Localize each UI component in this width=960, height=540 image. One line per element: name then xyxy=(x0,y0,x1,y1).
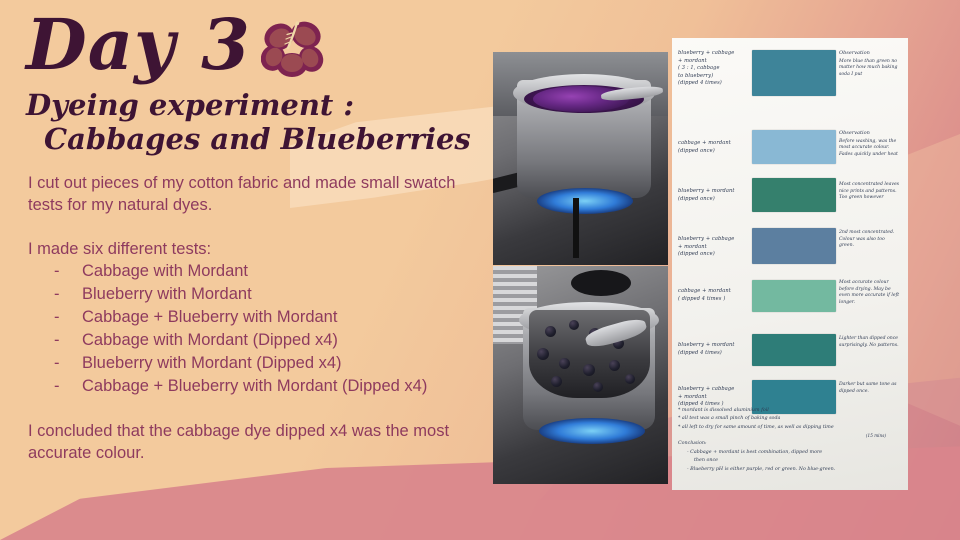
bullet-marker: - xyxy=(54,306,60,329)
conclusion-paragraph: I concluded that the cabbage dye dipped … xyxy=(28,420,484,464)
observation-text: More blue than green no matter how much … xyxy=(839,59,897,77)
footnote: * all test was a small pinch of baking s… xyxy=(678,415,902,423)
list-item: -Cabbage + Blueberry with Mordant xyxy=(28,306,484,329)
page-subtitle: Dyeing experiment : Cabbages and Blueber… xyxy=(26,88,484,156)
list-item: -Blueberry with Mordant (Dipped x4) xyxy=(28,352,484,375)
list-item-label: Cabbage with Mordant (Dipped x4) xyxy=(82,331,338,349)
footnote: * mordant is dissolved aluminium foil xyxy=(678,407,902,415)
notebook-footnotes: * mordant is dissolved aluminium foil * … xyxy=(678,407,902,474)
table-row: blueberry + mordant (dipped once) Most c… xyxy=(672,178,908,212)
fabric-swatch xyxy=(752,280,836,312)
tests-list: -Cabbage with Mordant -Blueberry with Mo… xyxy=(28,260,484,398)
swatch-label: blueberry + mordant (dipped 4 times) xyxy=(672,334,752,357)
list-item: -Cabbage + Blueberry with Mordant (Dippe… xyxy=(28,375,484,398)
swatch-label: blueberry + cabbage + mordant (dipped 4 … xyxy=(672,380,752,409)
conclusion-line: - Cabbage + mordant is best combination,… xyxy=(678,449,902,457)
blueberry xyxy=(593,382,603,392)
table-row: blueberry + mordant (dipped 4 times) Lig… xyxy=(672,334,908,366)
subtitle-line-1: Dyeing experiment : xyxy=(26,88,354,122)
gas-flame xyxy=(539,418,645,444)
hibiscus-icon xyxy=(261,17,325,79)
blueberry xyxy=(569,320,579,330)
table-row: blueberry + cabbage + mordant ( 3 : 1, c… xyxy=(672,50,908,96)
body-text: I cut out pieces of my cotton fabric and… xyxy=(28,172,484,464)
page-title: Day 3 xyxy=(26,8,251,82)
observation-text: Most concentrated leaves nice prints and… xyxy=(839,182,899,200)
list-item: -Blueberry with Mordant xyxy=(28,283,484,306)
swatch-label: cabbage + mordant ( dipped 4 times ) xyxy=(672,280,752,303)
observation-note: Observation More blue than green no matt… xyxy=(836,50,901,78)
fabric-swatch xyxy=(752,334,836,366)
slide-canvas: Day 3 Dy xyxy=(0,0,960,540)
observation-note: Lighter than dipped once surprisingly. N… xyxy=(836,334,901,349)
conclusion-heading: Conclusion: xyxy=(678,440,902,448)
fabric-swatch xyxy=(752,228,836,264)
blueberry xyxy=(609,360,620,371)
observation-text: Most accurate colour before drying. May … xyxy=(839,280,899,305)
list-item-label: Cabbage + Blueberry with Mordant xyxy=(82,308,337,326)
list-item-label: Blueberry with Mordant (Dipped x4) xyxy=(82,354,342,372)
observation-note: Most concentrated leaves nice prints and… xyxy=(836,178,901,202)
observation-note: Most accurate colour before drying. May … xyxy=(836,280,901,306)
bullet-marker: - xyxy=(54,283,60,306)
blueberry xyxy=(537,348,549,360)
blueberry xyxy=(551,376,562,387)
blueberry xyxy=(583,364,595,376)
observation-text: Darker but same tone as dipped once. xyxy=(839,382,896,394)
fabric-swatch xyxy=(752,130,836,164)
observation-heading: Observation xyxy=(839,130,901,137)
intro-paragraph: I cut out pieces of my cotton fabric and… xyxy=(28,172,484,216)
list-item-label: Cabbage + Blueberry with Mordant (Dipped… xyxy=(82,377,427,395)
subtitle-line-2: Cabbages and Blueberries xyxy=(44,122,484,156)
rear-burner xyxy=(571,270,631,296)
swatch-label: blueberry + cabbage + mordant (dipped on… xyxy=(672,228,752,259)
blueberry xyxy=(625,374,635,384)
bullet-marker: - xyxy=(54,352,60,375)
blueberry xyxy=(545,326,556,337)
bullet-marker: - xyxy=(54,260,60,283)
gas-flame xyxy=(537,188,633,214)
footnote: * all left to dry for same amount of tim… xyxy=(678,424,902,432)
list-item-label: Cabbage with Mordant xyxy=(82,262,248,280)
conclusion-line: then once xyxy=(678,457,902,465)
list-item-label: Blueberry with Mordant xyxy=(82,285,252,303)
spacer xyxy=(28,216,484,238)
table-row: cabbage + mordant (dipped once) Observat… xyxy=(672,130,908,164)
tests-heading: I made six different tests: xyxy=(28,238,484,260)
swatch-label: blueberry + cabbage + mordant ( 3 : 1, c… xyxy=(672,50,752,88)
blueberry xyxy=(559,358,570,369)
blueberry-boiling-pot-photo xyxy=(493,266,668,484)
fabric-swatch xyxy=(752,178,836,212)
burner-grate xyxy=(573,198,579,258)
observation-text: Lighter than dipped once surprisingly. N… xyxy=(839,336,899,348)
mins-note: (15 mins) xyxy=(678,432,902,440)
table-row: cabbage + mordant ( dipped 4 times ) Mos… xyxy=(672,280,908,312)
cabbage-boiling-pot-photo xyxy=(493,52,668,265)
observation-text: Before washing, was the most accurate co… xyxy=(839,139,898,157)
swatch-label: blueberry + mordant (dipped once) xyxy=(672,178,752,203)
spacer xyxy=(28,398,484,420)
bullet-marker: - xyxy=(54,329,60,352)
bullet-marker: - xyxy=(54,375,60,398)
observation-note: 2nd most concentrated. Colour was also t… xyxy=(836,228,901,250)
observation-note: Observation Before washing, was the most… xyxy=(836,130,901,158)
list-item: -Cabbage with Mordant (Dipped x4) xyxy=(28,329,484,352)
text-column: Day 3 Dy xyxy=(24,8,484,464)
observation-heading: Observation xyxy=(839,50,901,57)
title-row: Day 3 xyxy=(26,8,484,82)
conclusion-line: - Blueberry pH is either purple, red or … xyxy=(678,466,902,474)
observation-note: Darker but same tone as dipped once. xyxy=(836,380,901,395)
observation-text: 2nd most concentrated. Colour was also t… xyxy=(839,230,894,248)
table-row: blueberry + cabbage + mordant (dipped on… xyxy=(672,228,908,264)
fabric-swatch xyxy=(752,50,836,96)
list-item: -Cabbage with Mordant xyxy=(28,260,484,283)
swatch-notebook-photo: blueberry + cabbage + mordant ( 3 : 1, c… xyxy=(672,38,908,490)
swatch-label: cabbage + mordant (dipped once) xyxy=(672,130,752,155)
